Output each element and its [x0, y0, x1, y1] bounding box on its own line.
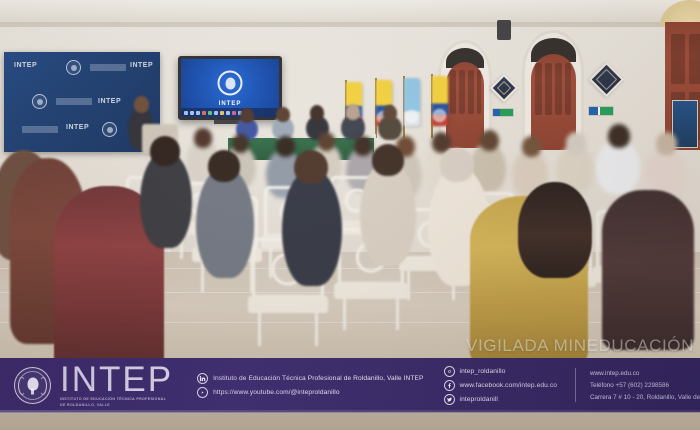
foreground-head-white [440, 148, 474, 182]
footer-bottom-strip [0, 410, 700, 413]
foreground-head-dark-bob [518, 182, 592, 278]
audience-head [194, 128, 212, 148]
twitter-row[interactable]: inteproldanill [444, 394, 557, 405]
backdrop-text-3 [22, 126, 58, 133]
screen-seal-icon [218, 71, 243, 96]
youtube-text: https://www.youtube.com/@inteproldanillo [213, 389, 340, 396]
foreground-person-light [360, 162, 416, 266]
screenshot-root: INTEP INTEP INTEP INTEP INTEP [0, 0, 700, 430]
facebook-text: www.facebook.com/intep.edu.co [460, 382, 557, 389]
audience-head [276, 136, 295, 157]
linkedin-icon [197, 373, 208, 384]
wall-cornice [0, 22, 700, 27]
twitter-icon [444, 394, 455, 405]
screen-brand-label: INTEP [219, 101, 242, 107]
foreground-person-dark [140, 152, 192, 248]
instagram-icon [444, 366, 455, 377]
intep-tagline-line1: INSTITUTO DE EDUCACIÓN TÉCNICA PROFESION… [60, 397, 173, 402]
backdrop-text-2 [56, 98, 92, 105]
foreground-head-light [372, 144, 404, 176]
flag-emblem-4 [433, 109, 446, 122]
backdrop-seal-2 [32, 94, 47, 109]
twitter-text: inteproldanill [460, 396, 498, 403]
wall-speaker [497, 20, 511, 40]
audience-head [480, 130, 499, 151]
backdrop-seal-1 [66, 60, 81, 75]
audience-head [656, 132, 677, 155]
panelist-5-head [383, 105, 397, 121]
backdrop-text-1 [90, 64, 126, 71]
exit-sign-center [588, 106, 614, 116]
panelist-1-head [240, 108, 254, 123]
facebook-row[interactable]: www.facebook.com/intep.edu.co [444, 380, 557, 391]
audience-head [318, 132, 335, 151]
backdrop-logo-3: INTEP [98, 98, 121, 105]
audience-head [522, 136, 541, 157]
foreground-head-grey [208, 150, 240, 182]
flag-emblem-3 [405, 110, 418, 123]
foreground-person-navy [282, 170, 342, 286]
footer-contact-column-1: Instituto de Educación Técnica Profesion… [197, 373, 423, 398]
panelist-2-head [276, 107, 290, 122]
intep-tagline-line2: DE ROLDANILLO, VALLE [60, 403, 173, 408]
panelist-4-head [346, 104, 360, 120]
intep-wordmark: INTEP [60, 363, 173, 396]
foreground-head-navy [294, 150, 328, 184]
foreground-person-right [602, 190, 694, 350]
foreground-person-grey [196, 168, 254, 278]
screen-content: INTEP [181, 59, 279, 117]
audience-head [608, 124, 630, 148]
intep-logo: INTEP INSTITUTO DE EDUCACIÓN TÉCNICA PRO… [60, 363, 173, 408]
presenter-head [134, 96, 149, 113]
audience-member [596, 140, 640, 194]
presentation-screen: INTEP [178, 56, 282, 120]
footer-contact-column-2: intep_roldanillo www.facebook.com/intep.… [444, 366, 557, 405]
backdrop-logo-1: INTEP [14, 62, 37, 69]
backdrop-seal-3 [102, 122, 117, 137]
mineducacion-watermark: VIGILADA MINEDUCACIÓN [466, 336, 694, 356]
screen-taskbar [181, 108, 279, 117]
audience-head [354, 136, 372, 156]
audience-head-grey [566, 132, 586, 154]
intep-seal-icon [14, 367, 51, 404]
instagram-text: intep_roldanillo [460, 368, 506, 375]
phone-text: Teléfono +57 (602) 2298586 [590, 382, 700, 389]
exit-sign-left [492, 108, 514, 117]
footer-divider [575, 368, 576, 402]
room-ceiling [0, 0, 700, 24]
backdrop-logo-4: INTEP [66, 124, 89, 131]
address-text: Carrera 7 # 10 - 20, Roldanillo, Valle d… [590, 394, 700, 401]
footer-contact-column-3: www.intep.edu.co Teléfono +57 (602) 2298… [590, 370, 700, 401]
youtube-row[interactable]: https://www.youtube.com/@inteproldanillo [197, 387, 423, 398]
panelist-3-head [310, 105, 324, 121]
backdrop-logo-2: INTEP [130, 62, 153, 69]
instagram-row[interactable]: intep_roldanillo [444, 366, 557, 377]
facebook-icon [444, 380, 455, 391]
foreground-head-dark [150, 136, 180, 166]
linkedin-row[interactable]: Instituto de Educación Técnica Profesion… [197, 373, 423, 384]
intep-footer-banner: INTEP INSTITUTO DE EDUCACIÓN TÉCNICA PRO… [0, 358, 700, 412]
linkedin-text: Instituto de Educación Técnica Profesion… [213, 375, 423, 382]
youtube-icon [197, 387, 208, 398]
website-text[interactable]: www.intep.edu.co [590, 370, 700, 377]
audience-head [232, 134, 249, 153]
wooden-door-left [446, 62, 484, 148]
